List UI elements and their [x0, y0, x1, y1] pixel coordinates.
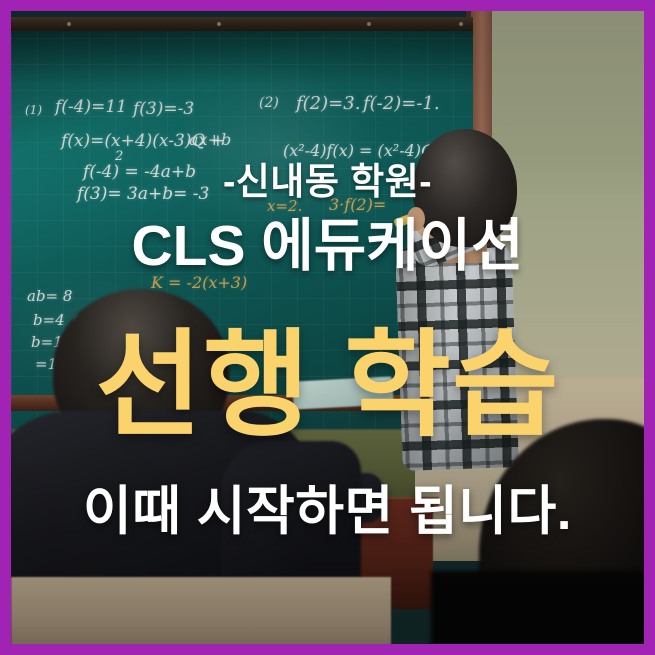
brand-title: CLS 에듀케이션 [11, 200, 644, 282]
student-right-shoulder [431, 571, 644, 644]
rail-screw-icon [67, 22, 71, 26]
footer-text: 이때 시작하면 됩니다. [11, 469, 644, 545]
chalkboard-top-rail [11, 17, 473, 31]
rail-screw-icon [367, 22, 371, 26]
poster-root: (1)f(-4)=11f(3)=-3(2)f(2)=3.f(-2)=-1.f(x… [0, 0, 655, 655]
photo-background: (1)f(-4)=11f(3)=-3(2)f(2)=3.f(-2)=-1.f(x… [11, 11, 644, 644]
rail-screw-icon [217, 22, 221, 26]
rail-screw-icon [459, 22, 463, 26]
subtitle-text: -신내동 학원- [11, 151, 644, 205]
headline-text: 선행 학습 [11, 321, 644, 451]
desk-foreground [11, 577, 391, 644]
